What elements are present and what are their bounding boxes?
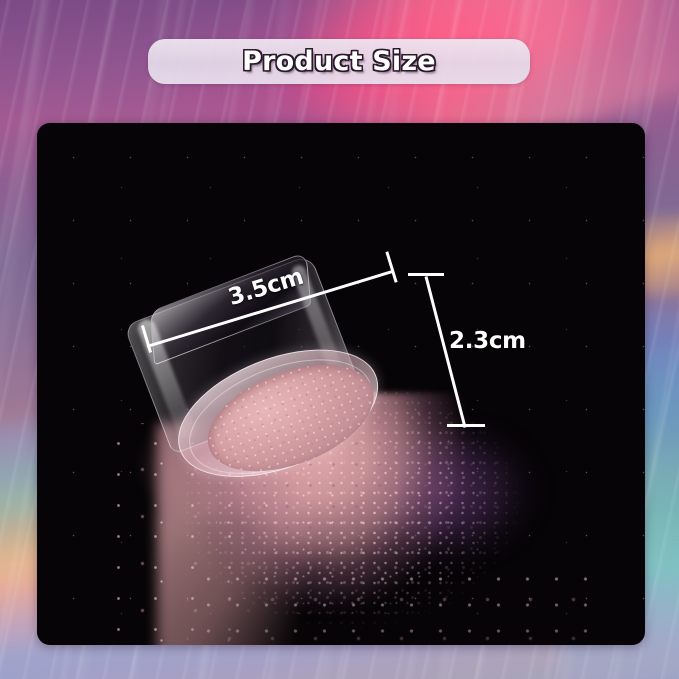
- powder-spray-far: [187, 563, 587, 645]
- page-title: Product Size: [242, 46, 436, 77]
- height-dimension-cap-bottom: [447, 424, 485, 427]
- height-dimension-label: 2.3cm: [449, 328, 526, 354]
- title-banner: Product Size: [148, 39, 530, 84]
- product-photo-panel: 3.5cm 2.3cm Powder weight: 1g: [37, 123, 645, 645]
- height-dimension-cap-top: [408, 273, 444, 276]
- product-size-infographic: Product Size 3.5cm 2.3cm: [0, 0, 679, 679]
